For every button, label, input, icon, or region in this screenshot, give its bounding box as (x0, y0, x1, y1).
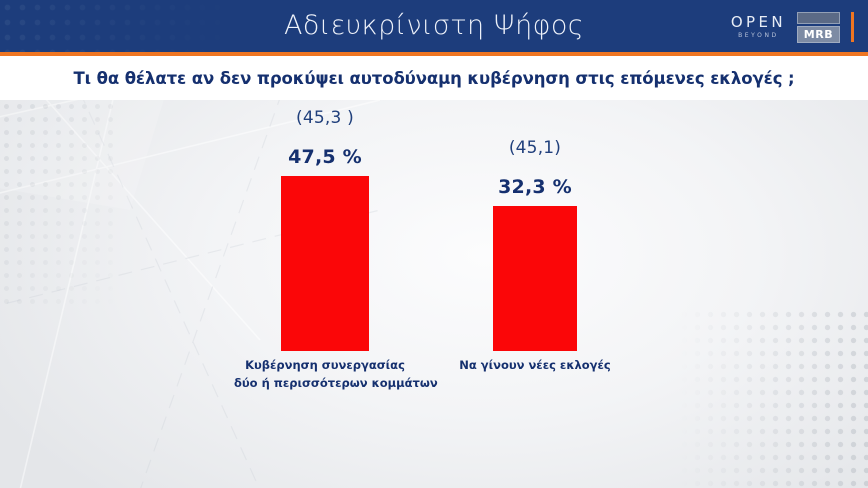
open-logo-word: OPEN (728, 15, 786, 30)
bar-group-2: (45,1) 32,3 % Να γίνουν νέες εκλογές (450, 138, 620, 375)
question-text: Τι θα θέλατε αν δεν προκύψει αυτοδύναμη … (73, 69, 794, 88)
bar-1-value-label: 47,5 % (234, 146, 416, 168)
bar-group-1: (45,3 ) 47,5 % Κυβέρνηση συνεργασίας δύο… (234, 108, 416, 393)
open-beyond-logo: OPEN BEYOND (728, 15, 786, 39)
bar-1-category-line2: δύο ή περισσότερων κομμάτων (234, 375, 416, 393)
mrb-logo-label: MRB (797, 26, 840, 43)
bar-2-value-label: 32,3 % (450, 176, 620, 198)
orange-accent-divider (851, 12, 854, 42)
chart-stage: (45,3 ) 47,5 % Κυβέρνηση συνεργασίας δύο… (0, 100, 868, 488)
header-bar: Αδιευκρίνιστη Ψήφος OPEN BEYOND MRB (0, 0, 868, 52)
bar-1-secondary-value: (45,3 ) (234, 108, 416, 128)
bar-2-category-line1: Να γίνουν νέες εκλογές (450, 357, 620, 375)
background-dots-left (0, 100, 120, 310)
subtitle-band: Τι θα θέλατε αν δεν προκύψει αυτοδύναμη … (0, 56, 868, 100)
open-logo-tagline: BEYOND (735, 33, 779, 39)
bar-2-rect (493, 206, 577, 351)
logo-cluster: OPEN BEYOND MRB (728, 9, 854, 45)
bar-1-rect (281, 176, 369, 351)
background-dots-right (678, 308, 868, 488)
mrb-logo: MRB (797, 12, 840, 43)
mrb-logo-bar (797, 12, 840, 24)
bar-2-secondary-value: (45,1) (450, 138, 620, 158)
screen-root: Αδιευκρίνιστη Ψήφος OPEN BEYOND MRB Τι θ… (0, 0, 868, 488)
bar-1-category-line1: Κυβέρνηση συνεργασίας (234, 357, 416, 375)
